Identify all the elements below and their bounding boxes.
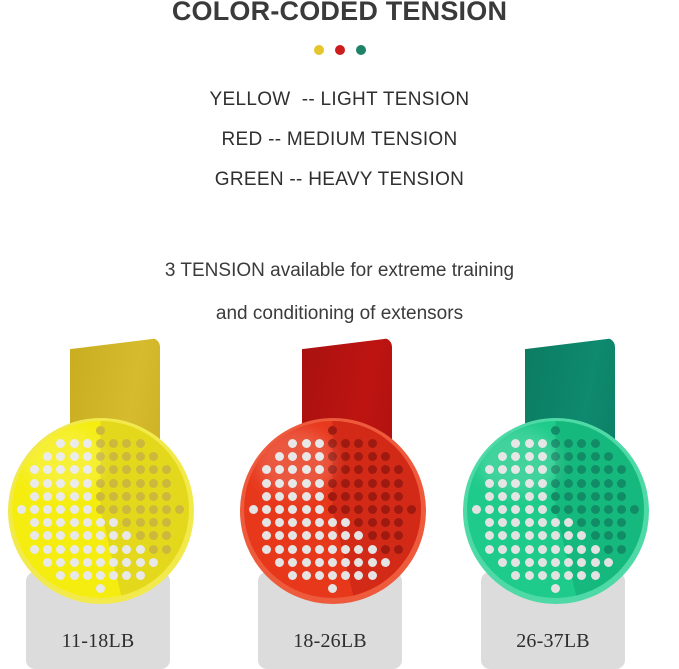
disc-hole [315,439,324,448]
disc-hole [394,479,403,488]
disc-hole [354,531,363,540]
disc-hole [149,452,158,461]
disc-hole-grid [244,421,421,598]
disc-hole [56,545,65,554]
disc-hole [96,558,105,567]
disc-hole [525,492,534,501]
disc-hole [485,465,494,474]
disc-hole [577,452,586,461]
disc-hole [315,465,324,474]
disc-hole [328,465,337,474]
disc-hole [341,505,350,514]
disc-hole [43,479,52,488]
disc-hole [525,439,534,448]
disc-hole [96,571,105,580]
disc-hole [109,465,118,474]
disc-hole [83,518,92,527]
disc-hole [122,465,131,474]
disc-hole [511,505,520,514]
disc-hole [288,558,297,567]
disc-hole [551,505,560,514]
disc-hole [302,492,311,501]
disc-hole [56,439,65,448]
disc-hole [564,505,573,514]
disc-hole [394,505,403,514]
disc-hole [288,571,297,580]
disc-hole [328,452,337,461]
disc-hole [249,505,258,514]
disc-hole [302,571,311,580]
disc-hole [30,531,39,540]
disc-hole [591,439,600,448]
disc-hole [564,492,573,501]
disc-hole [275,465,284,474]
disc-hole [149,518,158,527]
disc-hole [315,492,324,501]
disc-hole [381,531,390,540]
disc-hole [70,465,79,474]
disc-hole [262,479,271,488]
disc-hole [288,452,297,461]
disc-hole [551,531,560,540]
disc-hole [109,531,118,540]
disc-hole [564,479,573,488]
disc-hole [525,558,534,567]
disc-hole [485,531,494,540]
disc-hole [381,452,390,461]
disc-hole [328,545,337,554]
disc-hole [511,452,520,461]
disc-hole [136,465,145,474]
disc-hole [368,465,377,474]
disc-hole [368,505,377,514]
disc-hole [56,531,65,540]
disc-hole [577,505,586,514]
disc-hole [30,465,39,474]
disc-hole [162,479,171,488]
disc-hole [354,518,363,527]
disc-hole [591,545,600,554]
disc-hole [149,479,158,488]
green-dot [356,45,366,55]
disc-hole [538,531,547,540]
disc-hole [564,452,573,461]
disc-hole [591,465,600,474]
disc-hole [368,545,377,554]
disc-hole [136,531,145,540]
disc-hole [302,479,311,488]
disc-hole [315,505,324,514]
disc-hole [70,452,79,461]
disc-hole [538,545,547,554]
disc-hole [109,492,118,501]
disc-hole [136,505,145,514]
disc-hole [149,505,158,514]
disc-hole [136,492,145,501]
disc-hole [43,452,52,461]
disc-hole [56,571,65,580]
disc-hole [83,558,92,567]
disc-hole [604,452,613,461]
disc-hole [96,505,105,514]
disc-hole [56,492,65,501]
disc-hole [525,531,534,540]
disc-hole [70,558,79,567]
disc-hole [96,452,105,461]
disc-hole [551,518,560,527]
blurb-line-1: 3 TENSION available for extreme training [0,249,679,292]
disc-hole [381,558,390,567]
disc-hole [564,545,573,554]
disc-hole [617,531,626,540]
disc-hole [354,571,363,580]
disc-hole [275,545,284,554]
disc-hole [149,531,158,540]
disc-hole [577,571,586,580]
disc-hole [302,518,311,527]
disc-hole [498,479,507,488]
disc-hole [498,465,507,474]
disc-hole [83,479,92,488]
disc-hole-grid [12,421,189,598]
disc-hole [551,452,560,461]
disc-hole [109,571,118,580]
product-row: 11-18LB0118-26LB0226-37LB03 [0,330,679,669]
disc-hole [288,439,297,448]
disc-hole [511,571,520,580]
disc-hole [43,545,52,554]
disc-hole [122,518,131,527]
disc-hole [262,465,271,474]
disc-hole [122,505,131,514]
disc-hole [525,465,534,474]
disc-hole [275,479,284,488]
disc-hole [341,492,350,501]
disc-hole [302,452,311,461]
disc-hole [56,518,65,527]
disc-hole [394,465,403,474]
disc-hole [341,479,350,488]
disc-hole [485,505,494,514]
disc-hole [630,505,639,514]
disc-hole [288,505,297,514]
disc-hole [288,465,297,474]
disc-hole [577,518,586,527]
disc-hole [43,465,52,474]
perforated-disc[interactable] [463,418,649,604]
disc-hole [341,558,350,567]
disc-hole [262,531,271,540]
disc-hole [551,545,560,554]
disc-hole [315,558,324,567]
disc-hole [17,505,26,514]
disc-hole [122,492,131,501]
disc-hole [70,492,79,501]
disc-hole [498,452,507,461]
disc-hole [354,465,363,474]
disc-hole [328,492,337,501]
disc-hole [162,465,171,474]
disc-hole [511,531,520,540]
disc-hole [83,545,92,554]
weight-range-label: 18-26LB [258,630,402,653]
disc-hole [70,571,79,580]
disc-hole [109,545,118,554]
disc-hole [328,439,337,448]
disc-hole [577,439,586,448]
perforated-disc[interactable] [8,418,194,604]
disc-face [244,421,421,598]
disc-hole [564,571,573,580]
disc-hole [368,571,377,580]
disc-hole [617,518,626,527]
disc-hole [472,505,481,514]
disc-hole [96,545,105,554]
disc-hole [175,505,184,514]
disc-hole [591,571,600,580]
disc-hole [288,531,297,540]
disc-hole [564,558,573,567]
disc-hole [368,479,377,488]
disc-hole [122,531,131,540]
disc-hole [368,558,377,567]
disc-hole [498,545,507,554]
disc-hole [485,492,494,501]
disc-hole [511,465,520,474]
disc-hole [368,452,377,461]
disc-hole [551,492,560,501]
disc-hole [30,545,39,554]
disc-hole [43,492,52,501]
disc-hole [525,571,534,580]
disc-hole [538,439,547,448]
legend-line-1: YELLOW -- LIGHT TENSION [0,80,679,120]
disc-hole [381,479,390,488]
disc-hole [381,545,390,554]
disc-hole [70,439,79,448]
disc-hole [394,518,403,527]
disc-hole [577,531,586,540]
weight-range-label: 26-37LB [481,630,625,653]
disc-hole [30,479,39,488]
disc-hole [341,452,350,461]
disc-hole [551,439,560,448]
disc-hole [604,531,613,540]
green-tension-trainer[interactable]: 26-37LB03 [455,330,679,669]
disc-hole [275,452,284,461]
color-dot-row [0,45,679,55]
disc-hole [394,531,403,540]
disc-hole [564,465,573,474]
disc-hole [485,479,494,488]
disc-hole [381,518,390,527]
disc-hole [604,505,613,514]
disc-hole [70,518,79,527]
disc-hole [109,518,118,527]
weight-range-label: 11-18LB [26,630,170,653]
disc-hole [30,492,39,501]
disc-hole [591,518,600,527]
disc-hole [511,518,520,527]
disc-hole [302,505,311,514]
disc-hole [315,518,324,527]
disc-hole [498,505,507,514]
disc-hole [498,518,507,527]
disc-hole [83,492,92,501]
disc-hole [551,465,560,474]
disc-hole [617,465,626,474]
disc-hole [591,505,600,514]
disc-hole [577,479,586,488]
disc-hole [96,492,105,501]
disc-hole [96,518,105,527]
legend-line-3: GREEN -- HEAVY TENSION [0,160,679,200]
red-tension-trainer[interactable]: 18-26LB02 [232,330,464,669]
disc-hole [288,479,297,488]
disc-hole [604,545,613,554]
disc-hole [149,558,158,567]
disc-hole [511,558,520,567]
disc-hole [149,545,158,554]
disc-hole [288,545,297,554]
disc-hole [136,545,145,554]
disc-hole [617,505,626,514]
page-title: COLOR-CODED TENSION [0,0,679,27]
disc-hole [328,584,337,593]
disc-hole [604,492,613,501]
disc-hole [538,558,547,567]
disc-hole [511,439,520,448]
yellow-tension-trainer[interactable]: 11-18LB01 [0,330,232,669]
disc-hole [381,505,390,514]
disc-hole [381,465,390,474]
legend-line-2: RED -- MEDIUM TENSION [0,120,679,160]
disc-hole [288,492,297,501]
disc-hole [577,465,586,474]
disc-hole [262,545,271,554]
disc-hole [381,492,390,501]
disc-hole [83,505,92,514]
disc-hole [96,584,105,593]
disc-hole [525,452,534,461]
disc-hole [288,518,297,527]
disc-hole [83,465,92,474]
disc-hole [538,465,547,474]
disc-hole [564,531,573,540]
disc-hole [328,558,337,567]
disc-hole [485,518,494,527]
disc-hole [354,439,363,448]
disc-hole [591,558,600,567]
disc-hole [96,465,105,474]
disc-hole [577,545,586,554]
disc-hole [122,558,131,567]
disc-hole [525,545,534,554]
disc-hole [328,426,337,435]
disc-hole [511,492,520,501]
disc-hole [591,492,600,501]
disc-hole [354,452,363,461]
disc-hole [162,505,171,514]
disc-hole [162,518,171,527]
disc-hole [341,439,350,448]
disc-hole [43,505,52,514]
disc-hole [511,545,520,554]
disc-hole [368,518,377,527]
disc-hole [368,439,377,448]
yellow-dot [314,45,324,55]
disc-hole [315,479,324,488]
disc-hole [109,558,118,567]
disc-hole [275,505,284,514]
disc-hole [617,479,626,488]
disc-hole [394,545,403,554]
disc-hole [341,545,350,554]
disc-hole [315,452,324,461]
disc-hole [328,505,337,514]
disc-hole [262,518,271,527]
disc-hole [122,479,131,488]
disc-hole [564,439,573,448]
disc-hole [538,479,547,488]
disc-hole [617,545,626,554]
disc-hole [109,479,118,488]
disc-hole [564,518,573,527]
disc-hole [591,452,600,461]
disc-hole [136,479,145,488]
disc-hole [30,505,39,514]
disc-hole [70,479,79,488]
disc-hole [302,439,311,448]
perforated-disc[interactable] [240,418,426,604]
disc-hole [70,531,79,540]
disc-hole [551,558,560,567]
disc-hole [617,492,626,501]
disc-hole [354,505,363,514]
disc-hole [83,571,92,580]
disc-hole [56,465,65,474]
disc-hole [96,531,105,540]
disc-hole [136,452,145,461]
marketing-blurb: 3 TENSION available for extreme training… [0,249,679,335]
disc-hole [551,571,560,580]
red-dot [335,45,345,55]
disc-hole [551,584,560,593]
disc-hole [302,558,311,567]
blurb-line-2: and conditioning of extensors [0,292,679,335]
disc-hole [538,571,547,580]
disc-hole [328,531,337,540]
disc-hole [56,479,65,488]
disc-hole [525,518,534,527]
disc-hole [96,439,105,448]
disc-hole [122,452,131,461]
disc-hole [136,518,145,527]
disc-hole [538,452,547,461]
disc-hole [604,479,613,488]
disc-hole [315,571,324,580]
disc-hole [577,558,586,567]
disc-hole [136,439,145,448]
disc-hole [83,531,92,540]
disc-hole [122,571,131,580]
disc-hole [96,479,105,488]
disc-hole [525,505,534,514]
disc-hole [122,545,131,554]
disc-hole [354,479,363,488]
disc-hole [538,505,547,514]
disc-hole [302,531,311,540]
